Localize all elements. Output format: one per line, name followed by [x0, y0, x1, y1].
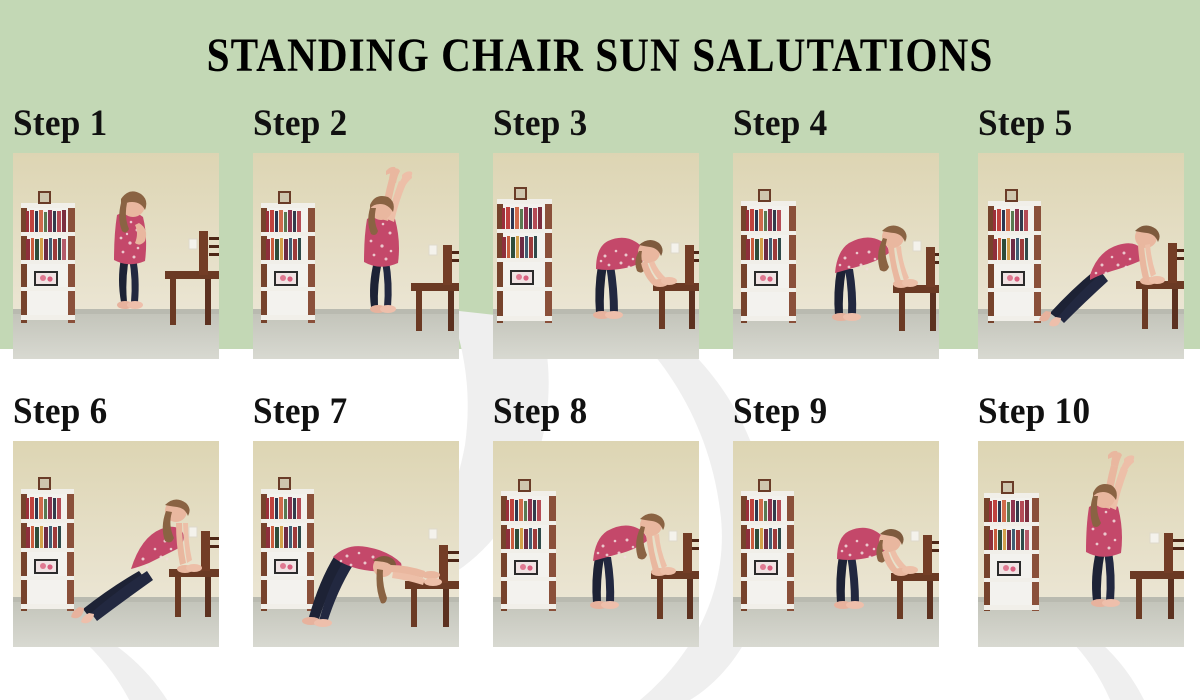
step-card-8: Step 8	[493, 393, 699, 647]
step-photo-4	[733, 153, 939, 359]
pose-step-10-icon	[978, 441, 1184, 647]
pose-step-1-icon	[13, 153, 219, 359]
step-label-5: Step 5	[978, 105, 1174, 142]
step-label-10: Step 10	[978, 393, 1174, 430]
step-card-9: Step 9	[733, 393, 939, 647]
step-label-4: Step 4	[733, 105, 929, 142]
pose-step-5-icon	[978, 153, 1184, 359]
step-photo-7	[253, 441, 459, 647]
step-photo-6	[13, 441, 219, 647]
pose-step-3-icon	[493, 153, 699, 359]
pose-step-4-icon	[733, 153, 939, 359]
step-label-9: Step 9	[733, 393, 929, 430]
step-label-1: Step 1	[13, 105, 209, 142]
step-photo-2	[253, 153, 459, 359]
step-label-8: Step 8	[493, 393, 689, 430]
step-photo-1	[13, 153, 219, 359]
step-photo-3	[493, 153, 699, 359]
pose-step-2-icon	[253, 153, 459, 359]
step-photo-8	[493, 441, 699, 647]
step-card-7: Step 7	[253, 393, 459, 647]
step-label-7: Step 7	[253, 393, 449, 430]
step-card-2: Step 2	[253, 105, 459, 359]
step-card-3: Step 3	[493, 105, 699, 359]
step-photo-10	[978, 441, 1184, 647]
step-photo-9	[733, 441, 939, 647]
step-card-5: Step 5	[978, 105, 1184, 359]
step-label-2: Step 2	[253, 105, 449, 142]
step-card-4: Step 4	[733, 105, 939, 359]
step-label-3: Step 3	[493, 105, 689, 142]
pose-step-9-icon	[733, 441, 939, 647]
step-card-10: Step 10	[978, 393, 1184, 647]
pose-step-7-icon	[253, 441, 459, 647]
pose-step-8-icon	[493, 441, 699, 647]
page-title: STANDING CHAIR SUN SALUTATIONS	[84, 28, 1116, 83]
step-label-6: Step 6	[13, 393, 209, 430]
pose-step-6-icon	[13, 441, 219, 647]
poster-canvas: STANDING CHAIR SUN SALUTATIONS Step 1	[0, 0, 1200, 700]
step-card-6: Step 6	[13, 393, 219, 647]
step-photo-5	[978, 153, 1184, 359]
step-card-1: Step 1	[13, 105, 219, 359]
